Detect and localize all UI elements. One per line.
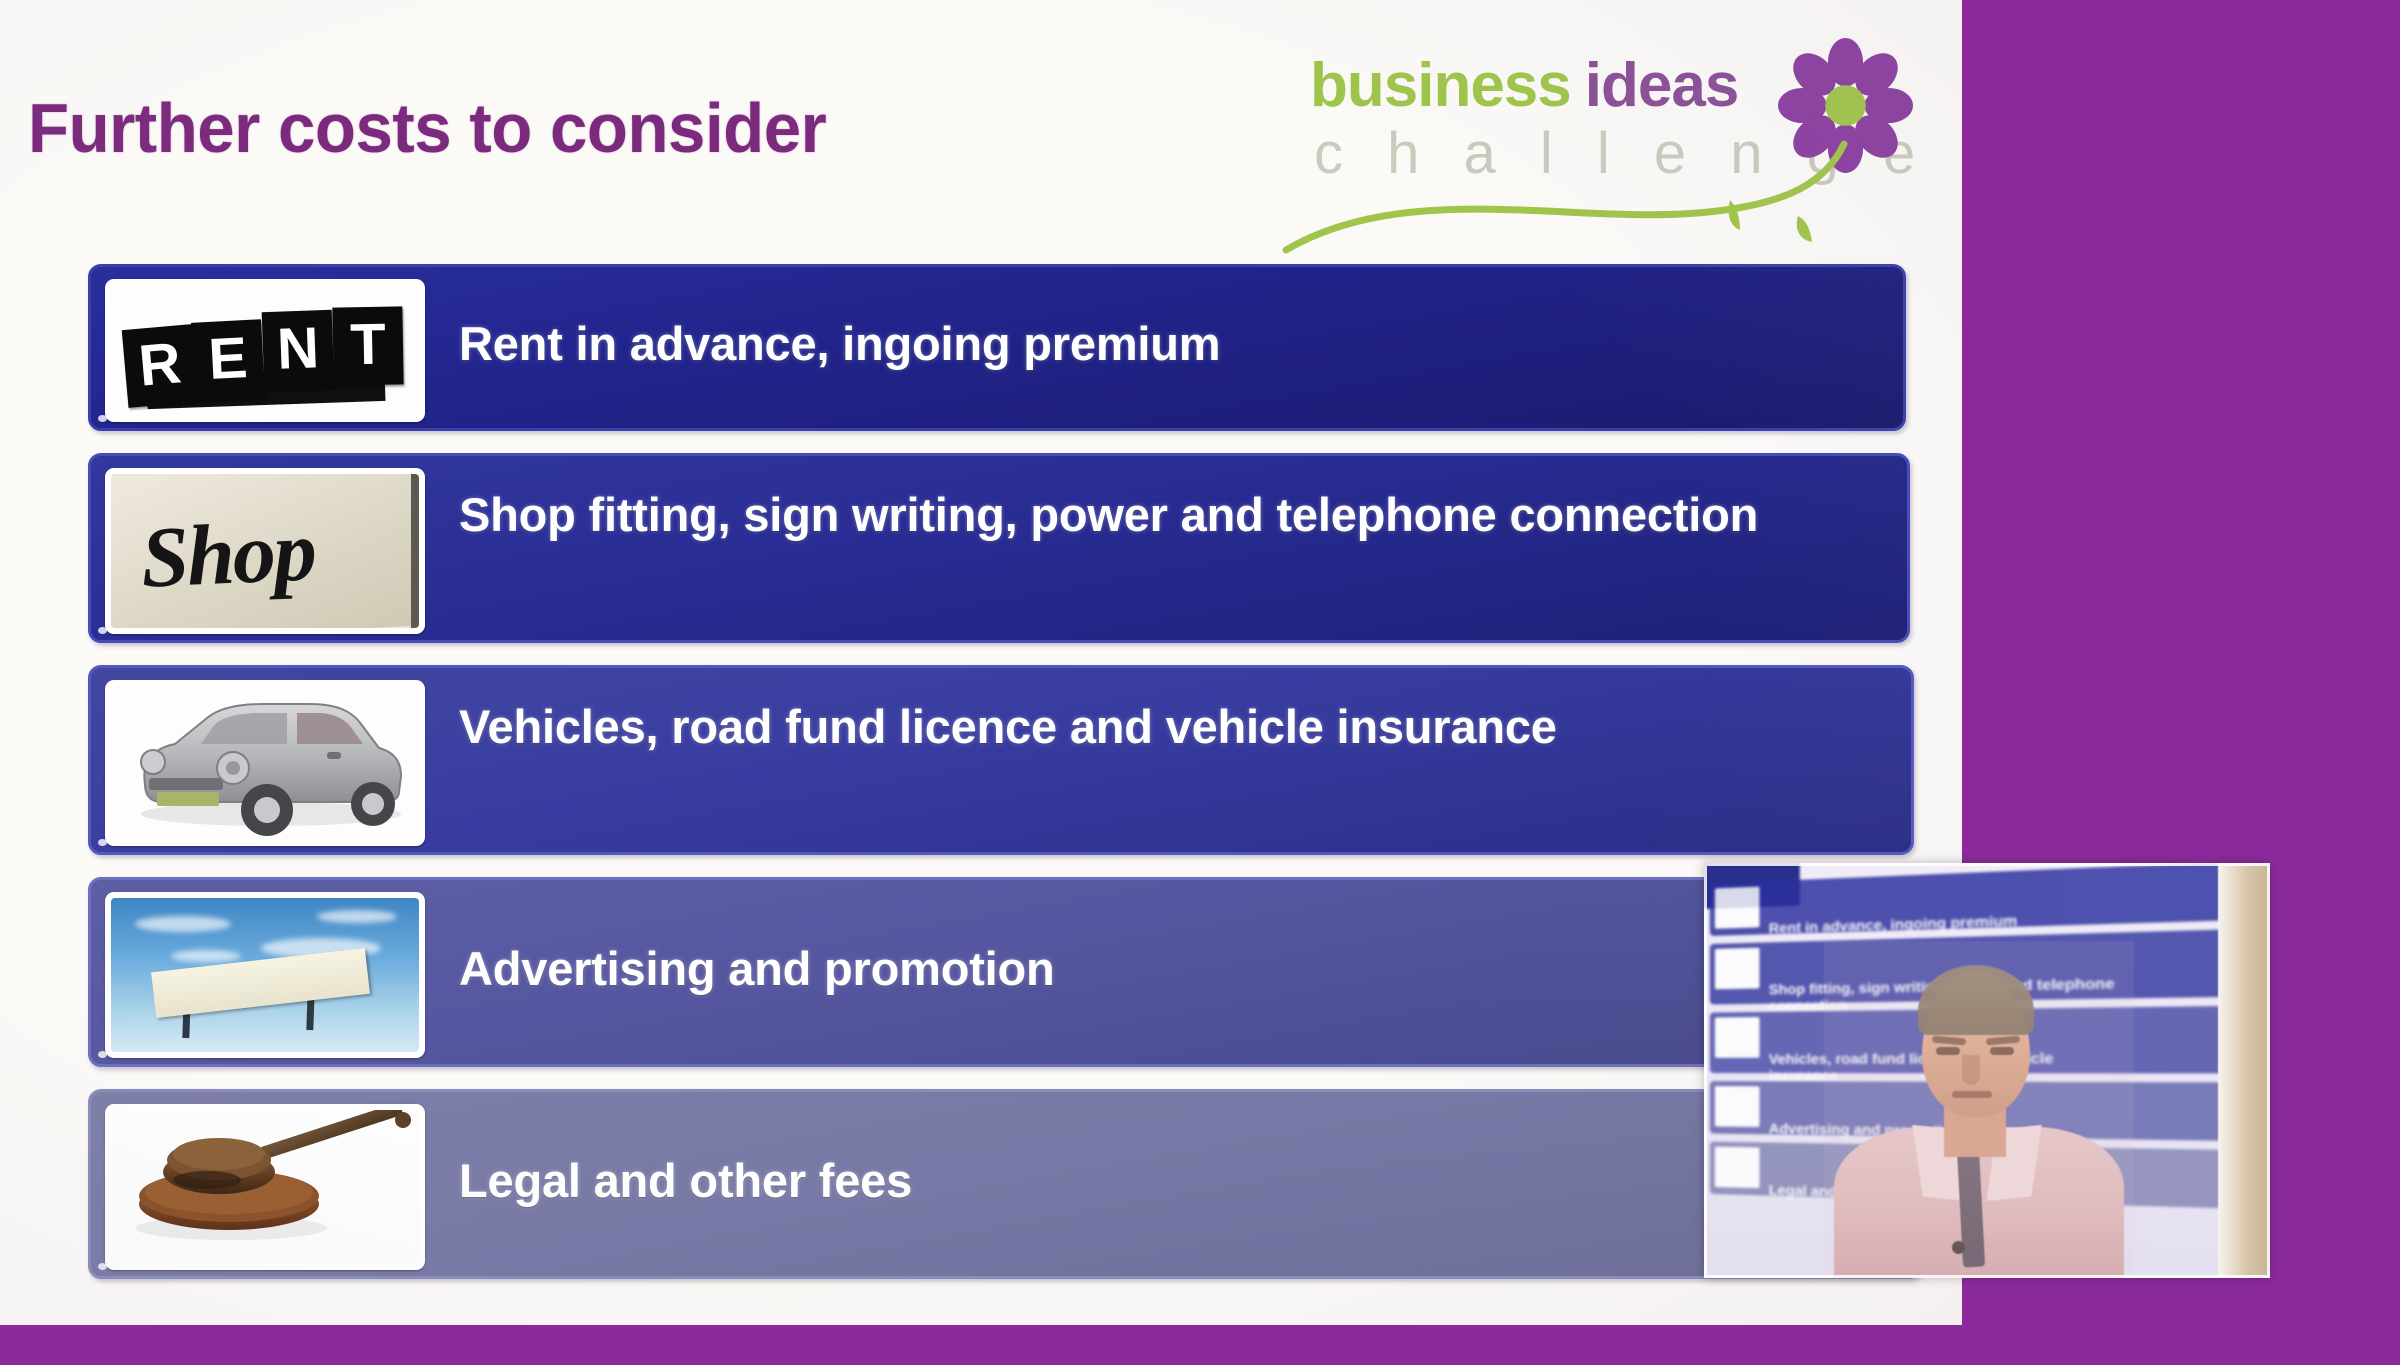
shop-sign-icon: Shop — [111, 474, 419, 628]
list-item[interactable]: Advertising and promotion — [88, 877, 1918, 1067]
list-item-thumbnail: Shop — [105, 468, 425, 634]
purple-background-bottom — [0, 1325, 2400, 1365]
gavel-icon — [111, 1110, 419, 1264]
page-title: Further costs to consider — [28, 88, 826, 168]
presenter-figure — [1834, 951, 2124, 1278]
shop-sign-text: Shop — [139, 500, 317, 607]
bar-corner-dot — [98, 1051, 107, 1058]
list-item-thumbnail — [105, 1104, 425, 1270]
list-item-label: Vehicles, road fund licence and vehicle … — [459, 702, 1699, 752]
presentation-slide: Further costs to consider businessideas … — [0, 0, 1962, 1342]
list-item-label: Advertising and promotion — [459, 944, 1055, 994]
bar-corner-dot — [98, 1263, 107, 1270]
lapel-microphone-icon — [1952, 1241, 1965, 1254]
billboard-icon — [111, 898, 419, 1052]
presenter-video-overlay[interactable]: Rent in advance, ingoing premium Shop fi… — [1704, 863, 2270, 1278]
logo-line-1: businessideas — [1310, 50, 1738, 121]
list-item-thumbnail — [105, 680, 425, 846]
list-item[interactable]: Legal and other fees — [88, 1089, 1922, 1279]
list-item-thumbnail: R E N T — [105, 279, 425, 422]
list-item-label: Shop fitting, sign writing, power and te… — [459, 490, 1889, 540]
list-item[interactable]: R E N T Rent in advance, ingoing premium — [88, 264, 1906, 431]
screen: Further costs to consider businessideas … — [0, 0, 2400, 1365]
list-item[interactable]: Shop Shop fitting, sign writing, power a… — [88, 453, 1910, 643]
rent-sign-icon: R E N T — [111, 285, 419, 416]
bar-corner-dot — [98, 415, 107, 422]
business-ideas-challenge-logo: businessideas c h a l l e n g e — [1278, 28, 1938, 263]
logo-word-ideas: ideas — [1585, 51, 1739, 120]
list-item[interactable]: Vehicles, road fund licence and vehicle … — [88, 665, 1914, 855]
mini-list-item-label: Rent in advance, ingoing premium — [1769, 912, 2017, 937]
logo-word-business: business — [1310, 51, 1571, 120]
room-wall-strip — [2218, 863, 2270, 1278]
list-item-thumbnail — [105, 892, 425, 1058]
bar-corner-dot — [98, 839, 107, 846]
list-item-label: Legal and other fees — [459, 1156, 912, 1206]
stem-swoosh-icon — [1278, 138, 1918, 258]
car-icon — [111, 686, 419, 840]
bar-corner-dot — [98, 627, 107, 634]
list-item-label: Rent in advance, ingoing premium — [459, 319, 1220, 369]
